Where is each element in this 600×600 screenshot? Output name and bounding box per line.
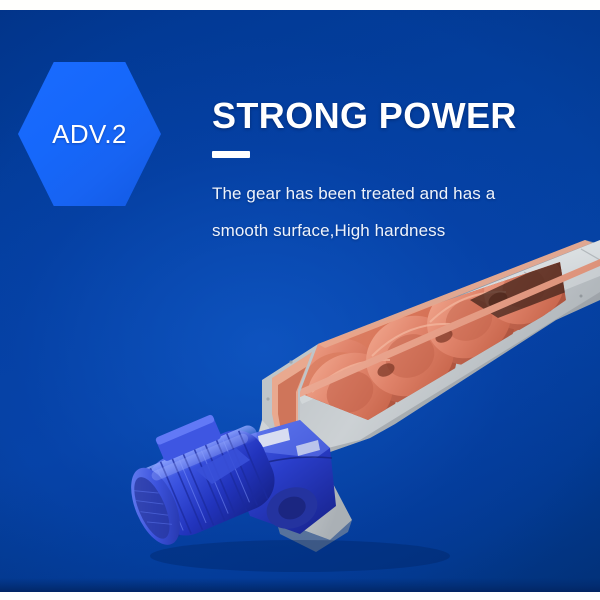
- advantage-banner: ADV.2 STRONG POWER The gear has been tre…: [0, 0, 600, 600]
- headline-underline-accent: [212, 151, 250, 158]
- description-line-1: The gear has been treated and has a: [212, 175, 572, 212]
- background-bottom-shadow: [0, 578, 600, 592]
- copy-block: STRONG POWER The gear has been treated a…: [212, 96, 572, 249]
- top-white-strip: [0, 0, 600, 10]
- bottom-white-strip: [0, 592, 600, 600]
- advantage-badge: ADV.2: [18, 62, 161, 206]
- description-text: The gear has been treated and has a smoo…: [212, 175, 572, 249]
- headline: STRONG POWER: [212, 96, 572, 136]
- description-line-2: smooth surface,High hardness: [212, 212, 572, 249]
- advantage-badge-label: ADV.2: [18, 62, 161, 206]
